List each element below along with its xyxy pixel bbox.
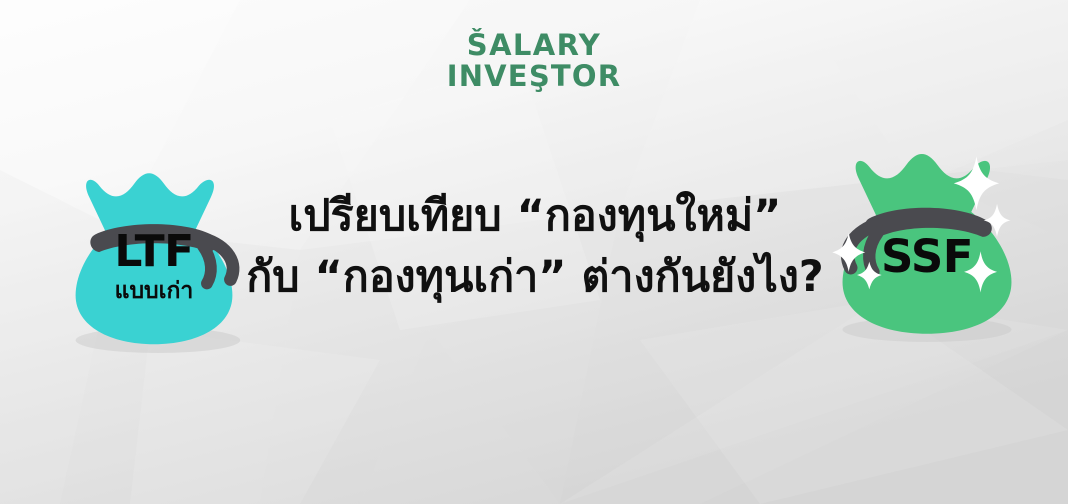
brand-logo-line1: ŠALARY [0,30,1068,61]
brand-logo: ŠALARY INVEŞTOR [0,30,1068,91]
brand-logo-line2: INVEŞTOR [0,61,1068,92]
money-bag-ssf: SSF [824,138,1030,344]
money-bag-ltf-icon [56,158,252,354]
headline-line-1: เปรียบเทียบ “กองทุนใหม่” [228,186,842,247]
banner-canvas: ŠALARY INVEŞTOR LTF แบบเก่า [0,0,1068,504]
headline-line-2: กับ “กองทุนเก่า” ต่างกันยังไง? [228,247,842,308]
headline: เปรียบเทียบ “กองทุนใหม่” กับ “กองทุนเก่า… [228,186,842,308]
money-bag-ltf: LTF แบบเก่า [56,158,252,354]
money-bag-ssf-icon [824,138,1030,344]
